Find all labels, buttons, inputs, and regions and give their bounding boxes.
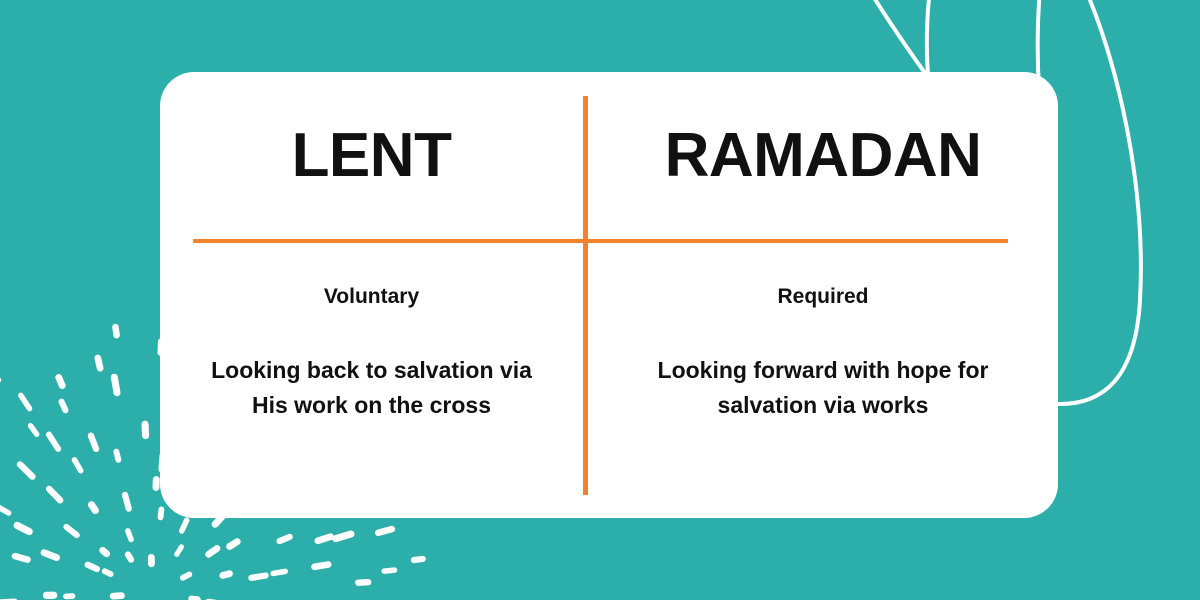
column-tag-lent: Voluntary [324,284,419,309]
poster-canvas: LENT Voluntary Looking back to salvation… [0,0,1200,600]
column-description-ramadan: Looking forward with hope for salvation … [643,353,1003,422]
column-tag-ramadan: Required [777,284,868,309]
comparison-column-ramadan: RAMADAN Required Looking forward with ho… [588,72,1058,518]
comparison-column-lent: LENT Voluntary Looking back to salvation… [160,72,583,518]
column-body-lent: Voluntary Looking back to salvation via … [192,239,552,422]
column-description-lent: Looking back to salvation via His work o… [192,353,552,422]
column-title-lent: LENT [292,72,452,239]
column-title-ramadan: RAMADAN [665,72,982,239]
column-body-ramadan: Required Looking forward with hope for s… [643,239,1003,422]
